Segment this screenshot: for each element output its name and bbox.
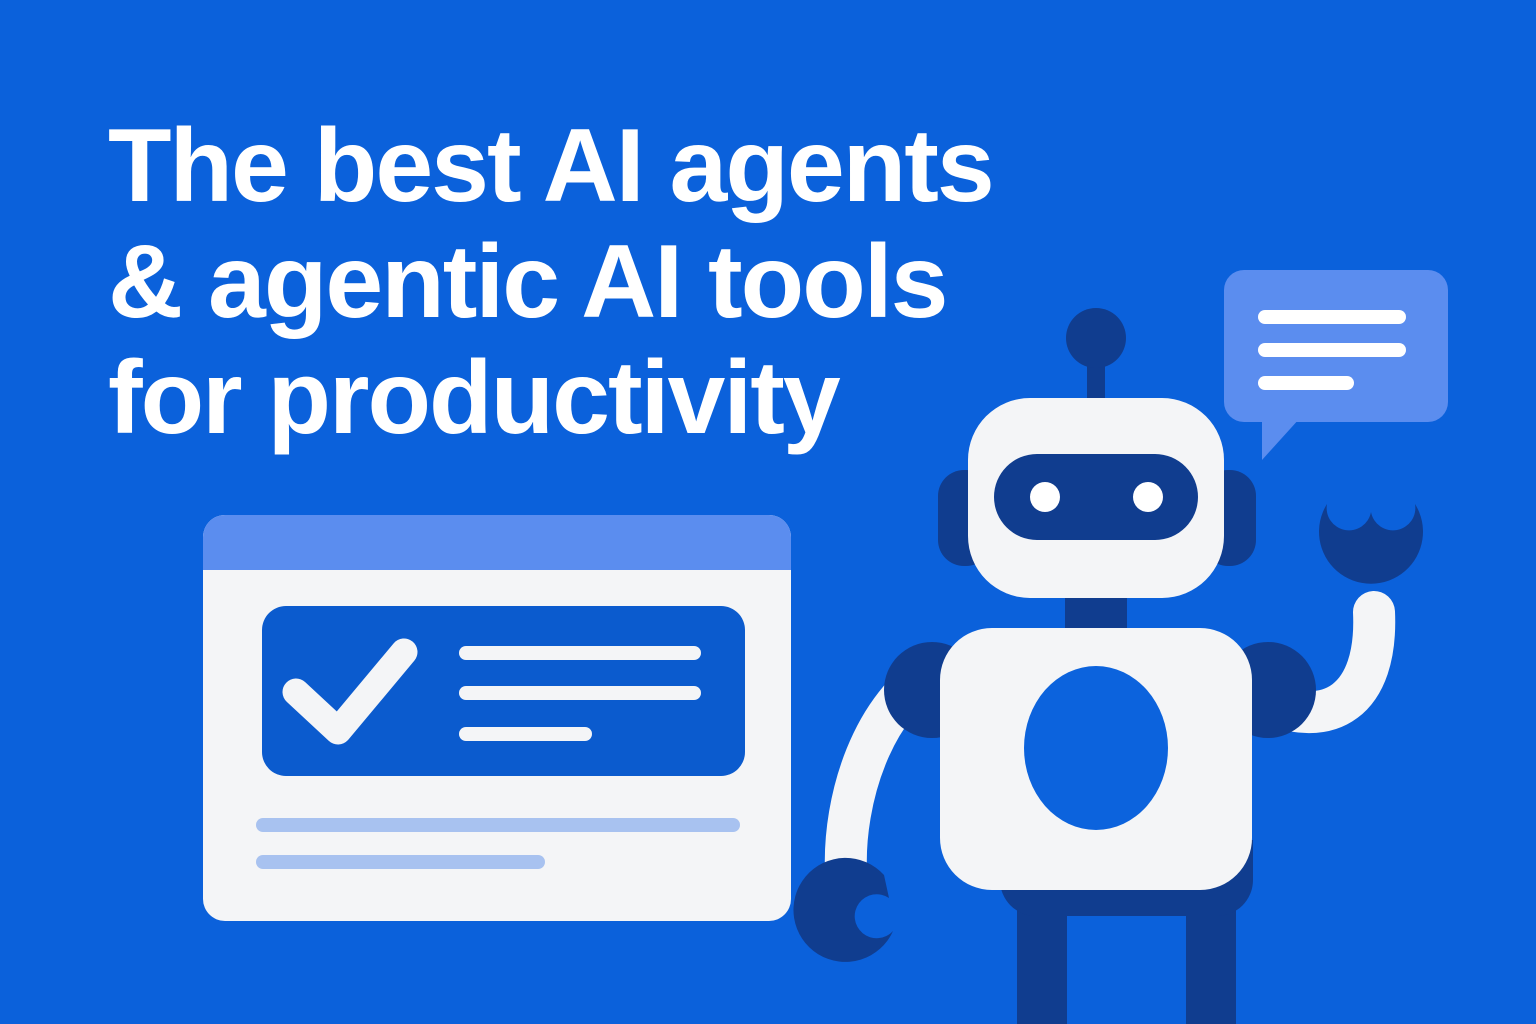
- bubble-line-1: [1258, 310, 1406, 324]
- task-card-title-bar: [203, 515, 791, 570]
- task-line-2: [459, 686, 701, 700]
- bubble-line-2: [1258, 343, 1406, 357]
- headline-line-3: for productivity: [108, 340, 1068, 456]
- placeholder-line-1: [256, 818, 740, 832]
- bubble-line-3: [1258, 376, 1354, 390]
- eye-right: [1133, 482, 1163, 512]
- torso-circle: [1024, 666, 1168, 830]
- placeholder-line-2: [256, 855, 545, 869]
- leg-right: [1186, 900, 1236, 1024]
- headline-line-2: & agentic AI tools: [108, 224, 1068, 340]
- page-title: The best AI agents & agentic AI tools fo…: [108, 108, 1068, 456]
- visor: [994, 454, 1198, 540]
- task-line-1: [459, 646, 701, 660]
- antenna-ball: [1066, 308, 1126, 368]
- eye-left: [1030, 482, 1060, 512]
- leg-left: [1017, 900, 1067, 1024]
- headline-line-1: The best AI agents: [108, 108, 1068, 224]
- hero-banner: The best AI agents & agentic AI tools fo…: [0, 0, 1536, 1024]
- task-line-3: [459, 727, 592, 741]
- task-card: [203, 515, 791, 921]
